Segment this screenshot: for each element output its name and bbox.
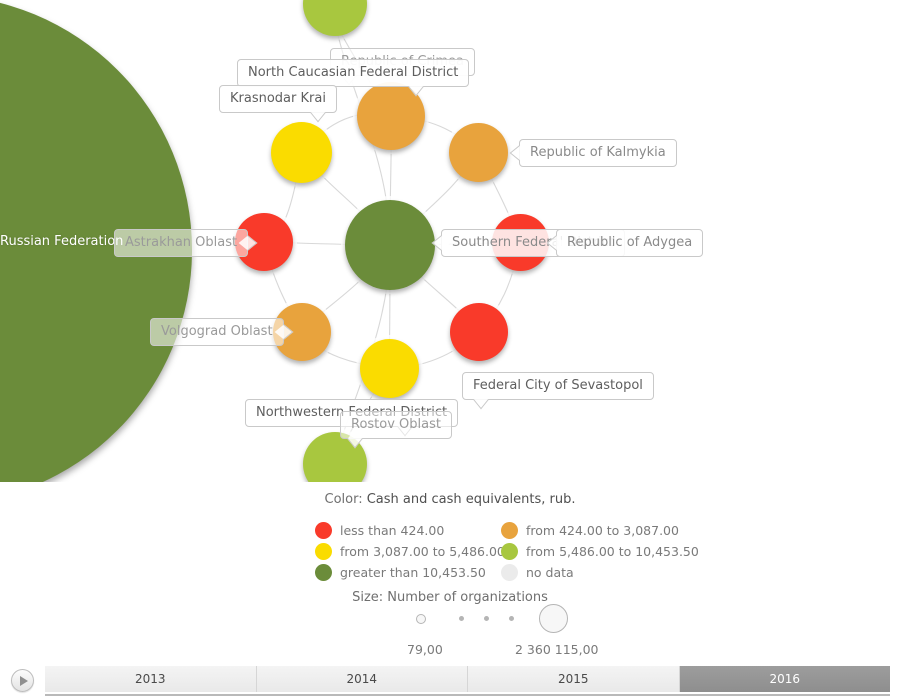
node-disc — [360, 339, 419, 398]
legend-item-5486-to-10453[interactable]: from 5,486.00 to 10,453.50 — [501, 543, 687, 560]
label-text: Volgograd Oblast — [161, 324, 273, 339]
size-mark-1 — [416, 614, 426, 624]
node-disc — [345, 200, 435, 290]
label-text: Republic of Kalmykia — [530, 145, 666, 160]
timeline-control[interactable]: 2013 2014 2015 2016 — [0, 662, 900, 700]
node-disc — [450, 303, 508, 361]
size-legend-title: Size: Number of organizations — [0, 590, 900, 605]
timeline-segment-2015[interactable]: 2015 — [468, 666, 680, 692]
legend-item-3087-to-5486[interactable]: from 3,087.00 to 5,486.00 — [315, 543, 501, 560]
bubble-network-canvas[interactable]: Russian Federation Republic of Crimea — [0, 0, 900, 482]
legend-label: less than 424.00 — [340, 523, 444, 538]
label-text: Astrakhan Oblast — [125, 235, 237, 250]
legend-row: less than 424.00 from 424.00 to 3,087.00 — [315, 520, 715, 541]
color-legend-title-prefix: Color: — [325, 492, 367, 507]
legend-label: greater than 10,453.50 — [340, 565, 486, 580]
legend-swatch-dark-green — [315, 564, 332, 581]
timeline-track[interactable]: 2013 2014 2015 2016 — [45, 666, 890, 696]
node-disc — [449, 123, 508, 182]
label-republic-of-kalmykia[interactable]: Republic of Kalmykia — [519, 139, 677, 167]
legend-block: Color: Cash and cash equivalents, rub. l… — [0, 482, 900, 662]
legend-label: no data — [526, 565, 574, 580]
node-federal-city-of-sevastopol[interactable] — [450, 303, 508, 361]
timeline-segment-2013[interactable]: 2013 — [45, 666, 257, 692]
label-federal-city-of-sevastopol[interactable]: Federal City of Sevastopol — [462, 372, 654, 400]
legend-swatch-yellow — [315, 543, 332, 560]
label-republic-of-adygea[interactable]: Republic of Adygea — [556, 229, 703, 257]
label-north-caucasian-federal-district[interactable]: North Caucasian Federal District — [237, 59, 469, 87]
color-legend-metric: Cash and cash equivalents, rub. — [367, 492, 576, 507]
legend-row: from 3,087.00 to 5,486.00 from 5,486.00 … — [315, 541, 715, 562]
play-triangle — [20, 676, 28, 686]
timeline-segment-2014[interactable]: 2014 — [257, 666, 469, 692]
label-text: Rostov Oblast — [351, 417, 441, 432]
legend-swatch-orange — [501, 522, 518, 539]
node-northwestern-federal-district[interactable] — [360, 339, 419, 398]
size-mark-4 — [509, 616, 514, 621]
label-volgograd-oblast[interactable]: Volgograd Oblast — [150, 318, 284, 346]
color-legend-title: Color: Cash and cash equivalents, rub. — [0, 492, 900, 507]
size-mark-3 — [484, 616, 489, 621]
legend-swatch-red — [315, 522, 332, 539]
timeline-segment-2016[interactable]: 2016 — [680, 666, 891, 692]
node-label-russian-federation: Russian Federation — [0, 234, 123, 249]
label-astrakhan-oblast[interactable]: Astrakhan Oblast — [114, 229, 248, 257]
legend-label: from 5,486.00 to 10,453.50 — [526, 544, 699, 559]
legend-item-greater-than-10453[interactable]: greater than 10,453.50 — [315, 564, 501, 581]
legend-swatch-light-green — [501, 543, 518, 560]
node-disc — [271, 122, 332, 183]
legend-label: from 424.00 to 3,087.00 — [526, 523, 679, 538]
legend-swatch-no-data — [501, 564, 518, 581]
label-text: North Caucasian Federal District — [248, 65, 458, 80]
color-legend-items: less than 424.00 from 424.00 to 3,087.00… — [315, 520, 715, 583]
size-legend-max-value: 2 360 115,00 — [515, 642, 599, 657]
label-text: Republic of Adygea — [567, 235, 692, 250]
label-rostov-oblast[interactable]: Rostov Oblast — [340, 411, 452, 439]
legend-item-less-than-424[interactable]: less than 424.00 — [315, 522, 501, 539]
size-legend-min-value: 79,00 — [407, 642, 443, 657]
size-legend-marks — [0, 610, 900, 640]
play-icon[interactable] — [11, 669, 34, 692]
node-krasnodar-krai[interactable] — [271, 122, 332, 183]
size-mark-5 — [539, 604, 568, 633]
node-republic-of-kalmykia[interactable] — [449, 123, 508, 182]
node-southern-federal-district[interactable] — [345, 200, 435, 290]
legend-row: greater than 10,453.50 no data — [315, 562, 715, 583]
label-text: Federal City of Sevastopol — [473, 378, 643, 393]
label-krasnodar-krai[interactable]: Krasnodar Krai — [219, 85, 337, 113]
legend-item-no-data[interactable]: no data — [501, 564, 687, 581]
legend-item-424-to-3087[interactable]: from 424.00 to 3,087.00 — [501, 522, 687, 539]
legend-label: from 3,087.00 to 5,486.00 — [340, 544, 505, 559]
label-text: Krasnodar Krai — [230, 91, 326, 106]
size-mark-2 — [459, 616, 464, 621]
